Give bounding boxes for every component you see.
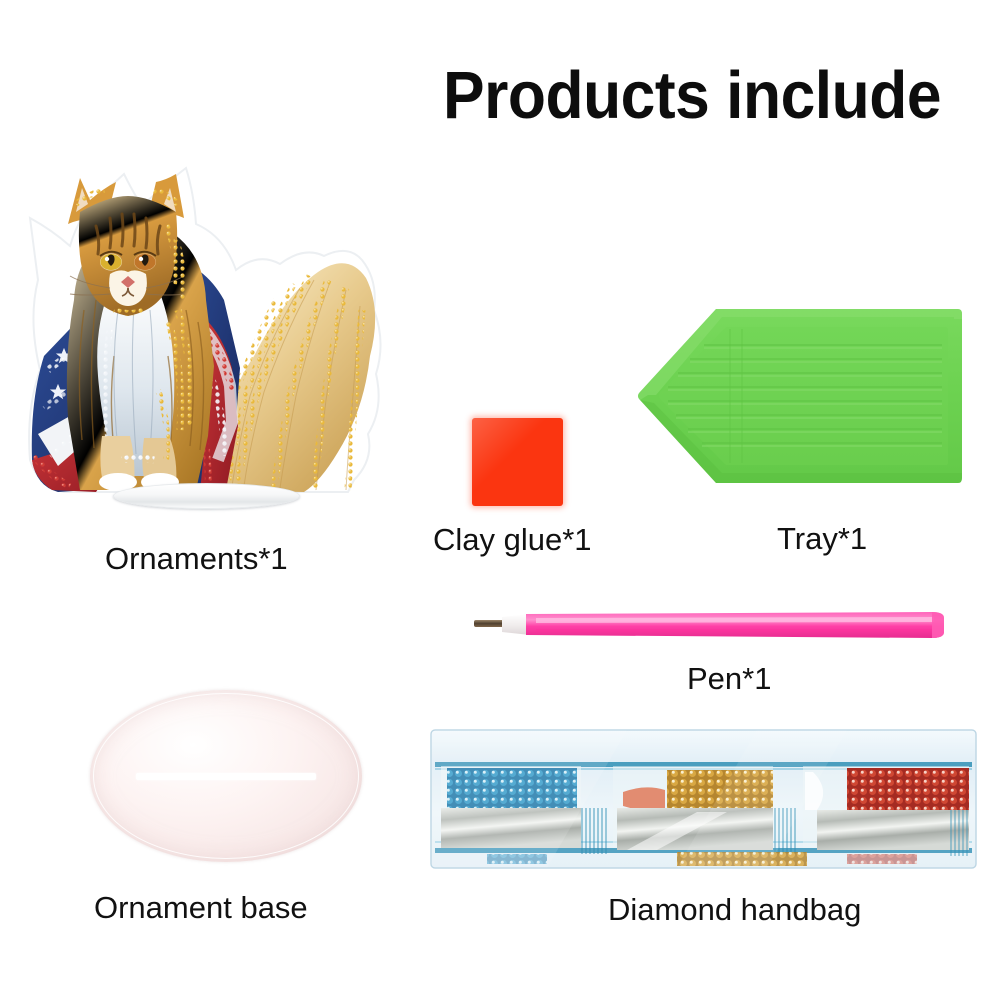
- product-sheet: Products include: [0, 0, 1001, 1001]
- caption-ornaments: Ornaments*1: [105, 541, 288, 577]
- diamond-bag-icon: [427, 724, 980, 874]
- oval-base-icon: [90, 690, 362, 862]
- tray-icon: [634, 305, 964, 487]
- ornament-stand-plate: [113, 483, 300, 509]
- cat-ornament-icon: [18, 160, 388, 515]
- oval-base-slot: [136, 773, 316, 780]
- caption-tray: Tray*1: [777, 521, 867, 557]
- caption-clay-glue: Clay glue*1: [433, 522, 592, 558]
- caption-ornament-base: Ornament base: [94, 890, 308, 926]
- caption-pen: Pen*1: [687, 661, 771, 697]
- clay-glue-highlight: [472, 418, 563, 506]
- pen-icon: [470, 604, 948, 646]
- caption-diamond-handbag: Diamond handbag: [608, 892, 861, 928]
- clay-glue-icon: [472, 418, 563, 506]
- page-title: Products include: [443, 60, 1001, 132]
